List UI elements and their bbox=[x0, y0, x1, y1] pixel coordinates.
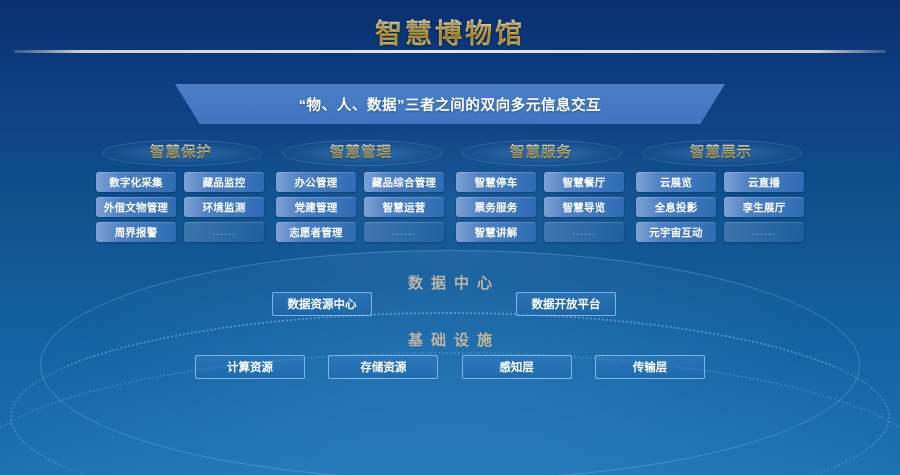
chip-item[interactable]: 周界报警 bbox=[96, 222, 176, 242]
pillar-header-management: 智慧管理 bbox=[276, 136, 446, 166]
infrastructure-label: 基础设施 bbox=[0, 329, 900, 350]
chip-item-more[interactable]: ...... bbox=[724, 222, 804, 242]
page-title: 智慧博物馆 bbox=[0, 12, 900, 51]
chip-item[interactable]: 智慧导览 bbox=[544, 197, 624, 217]
chip-item-more[interactable]: ...... bbox=[364, 222, 444, 242]
slide-canvas: 智慧博物馆 “物、人、数据”三者之间的双向多元信息交互 智慧保护 数字化采集 藏… bbox=[0, 0, 900, 475]
pillar-items-management: 办公管理 藏品综合管理 党建管理 智慧运营 志愿者管理 ...... bbox=[276, 172, 446, 242]
title-divider bbox=[14, 50, 886, 53]
interaction-banner-label: “物、人、数据”三者之间的双向多元信息交互 bbox=[299, 94, 602, 115]
infra-box-storage[interactable]: 存储资源 bbox=[328, 355, 438, 379]
data-resource-center-box[interactable]: 数据资源中心 bbox=[272, 292, 372, 316]
pillar-title-exhibition: 智慧展示 bbox=[690, 141, 752, 162]
pillar-columns: 智慧保护 数字化采集 藏品监控 外借文物管理 环境监测 周界报警 ...... … bbox=[96, 136, 806, 242]
pillar-title-management: 智慧管理 bbox=[330, 141, 392, 162]
chip-item[interactable]: 数字化采集 bbox=[96, 172, 176, 192]
chip-item[interactable]: 藏品综合管理 bbox=[364, 172, 444, 192]
pillar-column-exhibition: 智慧展示 云展览 云直播 全息投影 孪生展厅 元宇宙互动 ...... bbox=[636, 136, 806, 242]
chip-item[interactable]: 元宇宙互动 bbox=[636, 222, 716, 242]
pillar-title-service: 智慧服务 bbox=[510, 141, 572, 162]
pillar-header-exhibition: 智慧展示 bbox=[636, 136, 806, 166]
chip-item[interactable]: 全息投影 bbox=[636, 197, 716, 217]
pillar-items-protection: 数字化采集 藏品监控 外借文物管理 环境监测 周界报警 ...... bbox=[96, 172, 266, 242]
data-center-label: 数据中心 bbox=[0, 272, 900, 293]
chip-item[interactable]: 云直播 bbox=[724, 172, 804, 192]
chip-item[interactable]: 办公管理 bbox=[276, 172, 356, 192]
infra-box-transport[interactable]: 传输层 bbox=[595, 355, 705, 379]
data-open-platform-box[interactable]: 数据开放平台 bbox=[516, 292, 616, 316]
chip-item-more[interactable]: ...... bbox=[184, 222, 264, 242]
infra-box-compute[interactable]: 计算资源 bbox=[195, 355, 305, 379]
pillar-header-service: 智慧服务 bbox=[456, 136, 626, 166]
pillar-items-exhibition: 云展览 云直播 全息投影 孪生展厅 元宇宙互动 ...... bbox=[636, 172, 806, 242]
pillar-title-protection: 智慧保护 bbox=[150, 141, 212, 162]
pillar-column-protection: 智慧保护 数字化采集 藏品监控 外借文物管理 环境监测 周界报警 ...... bbox=[96, 136, 266, 242]
chip-item[interactable]: 外借文物管理 bbox=[96, 197, 176, 217]
chip-item[interactable]: 藏品监控 bbox=[184, 172, 264, 192]
chip-item[interactable]: 孪生展厅 bbox=[724, 197, 804, 217]
interaction-banner: “物、人、数据”三者之间的双向多元信息交互 bbox=[175, 84, 725, 124]
infrastructure-boxes: 计算资源 存储资源 感知层 传输层 bbox=[195, 355, 705, 379]
chip-item[interactable]: 环境监测 bbox=[184, 197, 264, 217]
chip-item[interactable]: 云展览 bbox=[636, 172, 716, 192]
chip-item[interactable]: 智慧讲解 bbox=[456, 222, 536, 242]
chip-item[interactable]: 票务服务 bbox=[456, 197, 536, 217]
infra-box-sensing[interactable]: 感知层 bbox=[462, 355, 572, 379]
chip-item[interactable]: 智慧停车 bbox=[456, 172, 536, 192]
pillar-column-service: 智慧服务 智慧停车 智慧餐厅 票务服务 智慧导览 智慧讲解 ...... bbox=[456, 136, 626, 242]
pillar-column-management: 智慧管理 办公管理 藏品综合管理 党建管理 智慧运营 志愿者管理 ...... bbox=[276, 136, 446, 242]
pillar-header-protection: 智慧保护 bbox=[96, 136, 266, 166]
chip-item-more[interactable]: ...... bbox=[544, 222, 624, 242]
chip-item[interactable]: 志愿者管理 bbox=[276, 222, 356, 242]
chip-item[interactable]: 智慧运营 bbox=[364, 197, 444, 217]
pillar-items-service: 智慧停车 智慧餐厅 票务服务 智慧导览 智慧讲解 ...... bbox=[456, 172, 626, 242]
chip-item[interactable]: 智慧餐厅 bbox=[544, 172, 624, 192]
chip-item[interactable]: 党建管理 bbox=[276, 197, 356, 217]
